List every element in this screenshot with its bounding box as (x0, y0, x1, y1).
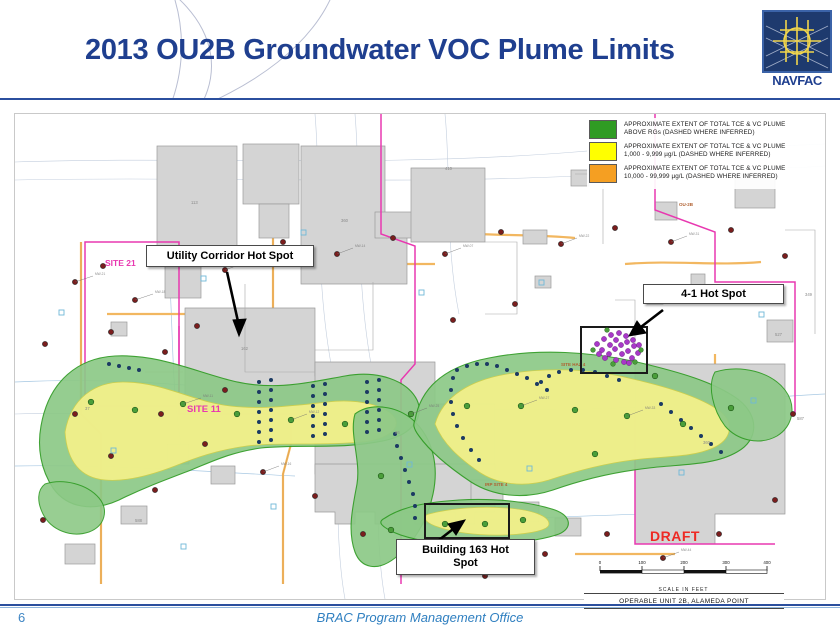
svg-text:MW-27: MW-27 (539, 396, 549, 400)
svg-text:MW-11: MW-11 (203, 394, 213, 398)
footer-title: BRAC Program Management Office (0, 610, 840, 625)
legend-text-line1: APPROXIMATE EXTENT OF TOTAL TCE & VC PLU… (624, 165, 785, 173)
svg-text:MW-44: MW-44 (681, 548, 691, 552)
scale-tick-0: 0 (599, 560, 602, 565)
scale-bar: 0 100 200 300 400 SCALE IN FEET (596, 558, 771, 593)
svg-text:349: 349 (805, 292, 813, 297)
legend-swatch-green (589, 120, 617, 139)
callout-4-1-hot-spot[interactable]: 4-1 Hot Spot (643, 284, 784, 304)
navfac-emblem-icon (762, 10, 832, 73)
legend-text-line2: 1,000 - 9,999 µg/L (DASHED WHERE INFERRE… (624, 151, 785, 159)
site-label-21: SITE 21 (105, 258, 136, 268)
legend-text-line1: APPROXIMATE EXTENT OF TOTAL TCE & VC PLU… (624, 143, 785, 151)
svg-text:113: 113 (191, 200, 198, 205)
legend-text-line1: APPROXIMATE EXTENT OF TOTAL TCE & VC PLU… (624, 121, 785, 129)
svg-text:MW-18: MW-18 (155, 290, 165, 294)
legend-text-line2: ABOVE RGs (DASHED WHERE INFERRED) (624, 129, 785, 137)
site-label-11: SITE 11 (187, 404, 222, 415)
svg-text:527: 527 (775, 332, 783, 337)
svg-text:OU-2B: OU-2B (679, 202, 694, 207)
svg-text:162: 162 (241, 346, 249, 351)
svg-text:37: 37 (85, 406, 90, 411)
legend-row: APPROXIMATE EXTENT OF TOTAL TCE & VC PLU… (589, 164, 826, 183)
scale-tick-200: 200 (680, 560, 688, 565)
svg-text:410: 410 (445, 166, 453, 171)
svg-text:MW-07: MW-07 (463, 244, 473, 248)
header-rule-dark (0, 98, 840, 100)
svg-text:SITE HAZ 4: SITE HAZ 4 (561, 362, 586, 367)
legend-text-line2: 10,000 - 99,999 µg/L (DASHED WHERE INFER… (624, 173, 785, 181)
draft-stamp: DRAFT (650, 528, 700, 544)
svg-text:MW-14: MW-14 (355, 244, 365, 248)
svg-text:360: 360 (341, 218, 349, 223)
svg-text:360: 360 (703, 440, 711, 445)
svg-text:MW-31: MW-31 (689, 232, 699, 236)
svg-text:MW-33: MW-33 (645, 406, 655, 410)
map-figure[interactable]: MW-21MW-18 MW-09MW-14 MW-07MW-22 MW-31MW… (14, 113, 826, 600)
legend-row: APPROXIMATE EXTENT OF TOTAL TCE & VC PLU… (589, 120, 826, 139)
footer-rule-dark (0, 604, 840, 606)
svg-text:588: 588 (135, 518, 143, 523)
scale-tick-400: 400 (763, 560, 771, 565)
svg-text:MW-12: MW-12 (309, 410, 319, 414)
navfac-logo: NAVFAC (762, 10, 832, 92)
slide-header: 2013 OU2B Groundwater VOC Plume Limits N… (0, 0, 840, 100)
legend-swatch-orange (589, 164, 617, 183)
page-title: 2013 OU2B Groundwater VOC Plume Limits (85, 34, 745, 67)
callout-utility-corridor[interactable]: Utility Corridor Hot Spot (146, 245, 314, 267)
svg-text:IRP SITE 4: IRP SITE 4 (485, 482, 508, 487)
legend-row: APPROXIMATE EXTENT OF TOTAL TCE & VC PLU… (589, 142, 826, 161)
svg-text:66: 66 (395, 430, 400, 435)
navfac-logo-text: NAVFAC (762, 73, 832, 88)
svg-text:MW-21: MW-21 (95, 272, 105, 276)
scale-tick-300: 300 (722, 560, 730, 565)
legend-swatch-yellow (589, 142, 617, 161)
footer-rule-light (0, 607, 840, 608)
map-legend: APPROXIMATE EXTENT OF TOTAL TCE & VC PLU… (587, 118, 826, 189)
svg-text:MW-16: MW-16 (281, 462, 291, 466)
svg-text:587: 587 (797, 416, 805, 421)
scale-tick-100: 100 (638, 560, 646, 565)
callout-building-163[interactable]: Building 163 Hot Spot (396, 539, 535, 575)
svg-text:MW-25: MW-25 (429, 404, 439, 408)
svg-text:MW-22: MW-22 (579, 234, 589, 238)
